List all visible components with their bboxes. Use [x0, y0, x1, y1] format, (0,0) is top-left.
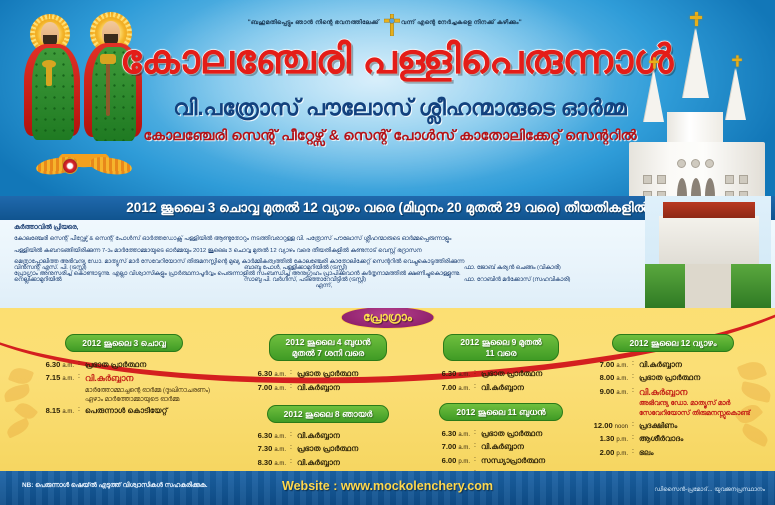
row-colon: :	[474, 455, 481, 466]
day-header-jul4-7[interactable]: 2012 ജൂലൈ 4 ബുധൻമുതൽ 7 ശനി വരെ	[269, 334, 388, 361]
program-rows: 6.30 a.m. : പ്രഭാത പ്രാർത്ഥന 7.00 a.m. :…	[422, 428, 580, 471]
wings-emblem	[34, 154, 134, 176]
row-event: പ്രഭാത പ്രാർത്ഥന	[481, 428, 580, 441]
row-colon: :	[290, 443, 297, 454]
program-row: 7.00 a.m. : വി.കുർബ്ബാന	[580, 359, 766, 372]
row-time: 7.15 a.m.	[26, 372, 78, 385]
row-colon: :	[474, 441, 481, 452]
design-credit: ഡിസൈൻ-പ്രമോദ്... യുവജനപ്രസ്ഥാനം	[654, 487, 765, 494]
program-row: 7.00 a.m. : വി.കുർബ്ബാന	[238, 382, 418, 395]
row-event: പ്രഭാത പ്രാർത്ഥന	[297, 368, 418, 381]
row-time: 2.00 p.m.	[580, 447, 632, 460]
church-thumbnail-roof	[663, 202, 755, 218]
row-colon: :	[290, 368, 297, 379]
signatory-line: നെല്ലിക്കാമുറിയിൽ	[14, 274, 244, 286]
row-colon: :	[474, 382, 481, 393]
church-spire-right	[726, 68, 746, 120]
program-row: 7.00 a.m. : വി.കുർബ്ബാന	[422, 441, 580, 454]
church-window	[739, 175, 748, 184]
program-row: 7.15 a.m. : വി.കുർബ്ബാന മാർത്തോമ്മാച്ചന്…	[26, 372, 222, 404]
program-row: 7.00 a.m. : വി.കുർബ്ബാന	[422, 382, 580, 395]
program-section: പ്രോഗ്രാം 2012 ജൂലൈ 3 ചൊവ്വ 6.30 a.m. : …	[0, 308, 775, 471]
church-window	[657, 175, 666, 184]
program-rows: 6.30 a.m. : പ്രഭാത പ്രാർത്ഥന 7.00 a.m. :…	[238, 368, 418, 394]
row-time: 12.00 noon	[580, 420, 632, 433]
row-colon: :	[632, 359, 639, 370]
signatory-line: ഫാ. ജോബ് കുര്യൻ ചെങ്ങം (വികാരി)	[464, 262, 654, 274]
program-row: 9.00 a.m. : വി.കുർബ്ബാന അഭിവന്ദ്യ ഡോ. മാ…	[580, 386, 766, 419]
header-section: "ബഹുമതിപ്പെട്ടും ഞാൻ നിന്റെ ഭവനത്തിലേക്ക…	[0, 0, 775, 196]
row-colon: :	[290, 382, 297, 393]
signatory-line: ഫാ. റോബിൻ മർക്കോസ് (സഹവികാരി)	[464, 274, 654, 286]
row-colon: :	[632, 420, 639, 431]
program-rows: 7.00 a.m. : വി.കുർബ്ബാന 8.00 a.m. : പ്രഭ…	[580, 359, 766, 460]
church-spire-center	[683, 28, 709, 98]
row-colon: :	[632, 372, 639, 383]
signatory-group-vicars: ഫാ. ജോബ് കുര്യൻ ചെങ്ങം (വികാരി) ഫാ. റോബി…	[464, 262, 654, 286]
row-event: വി.കുർബ്ബാന	[297, 430, 418, 443]
row-colon: :	[474, 428, 481, 439]
church-window	[643, 175, 652, 184]
program-column-3: 2012 ജൂലൈ 9 മുതൽ11 വരെ 6.30 a.m. : പ്രഭാ…	[422, 334, 580, 471]
church-photo	[621, 4, 773, 196]
church-rose-window	[677, 159, 686, 168]
signatory-line: ബാബു പോൾ, പള്ളിക്കാമുറിയിൽ (ട്രസ്റ്റി)	[244, 262, 464, 274]
verse-left-text: "ബഹുമതിപ്പെട്ടും ഞാൻ നിന്റെ ഭവനത്തിലേക്ക…	[184, 19, 379, 27]
sword-icon	[106, 58, 110, 116]
day-header-jul8[interactable]: 2012 ജൂലൈ 8 ഞായർ	[267, 405, 390, 423]
row-event: വി.കുർബ്ബാന	[639, 359, 766, 372]
program-row: 6.30 a.m. : വി.കുർബ്ബാന	[238, 430, 418, 443]
signatories: വിൻസന്റ് എസ്. പി. (ട്രസ്റ്റി) നെല്ലിക്കാ…	[14, 262, 654, 286]
program-row: 7.30 a.m. : പ്രഭാത പ്രാർത്ഥന	[238, 443, 418, 456]
row-colon: :	[290, 430, 297, 441]
program-row: 6.30 a.m. : പ്രഭാത പ്രാർത്ഥന	[238, 368, 418, 381]
program-row: 6.30 a.m. : പ്രഭാത പ്രാർത്ഥന	[422, 428, 580, 441]
row-event: സന്ധ്യാപ്രാർത്ഥന	[481, 455, 580, 468]
wing-right-icon	[89, 155, 133, 177]
row-colon: :	[632, 386, 639, 397]
row-event: വി.കുർബ്ബാന	[481, 382, 580, 395]
cross-icon	[384, 14, 400, 36]
row-time: 8.00 a.m.	[580, 372, 632, 385]
row-time: 1.30 p.m.	[580, 433, 632, 446]
church-cross-right-icon	[732, 55, 742, 66]
row-time: 6.00 p.m.	[422, 455, 474, 468]
program-row: 12.00 noon : പ്രദക്ഷിണം	[580, 420, 766, 433]
row-colon: :	[78, 359, 85, 370]
subtitle-feast: വി.പത്രോസ് പൗലോസ് ശ്ലീഹന്മാരുടെ ഓർമ്മ	[130, 95, 670, 121]
row-time: 9.00 a.m.	[580, 386, 632, 399]
body-section: 2012 ജൂലൈ 3 ചൊവ്വ മുതൽ 12 വ്യാഴം വരെ (മി…	[0, 196, 775, 308]
row-event: വി.കുർബ്ബാന	[297, 457, 418, 470]
row-event: ആശീർവാദം	[639, 433, 766, 446]
row-time: 6.30 a.m.	[238, 430, 290, 443]
signatory-group-trustees: ബാബു പോൾ, പള്ളിക്കാമുറിയിൽ (ട്രസ്റ്റി) സ…	[244, 262, 464, 286]
row-event: പെരുന്നാൾ കൊടിയേറ്റ്	[85, 405, 222, 418]
day-header-jul12[interactable]: 2012 ജൂലൈ 12 വ്യാഴം	[612, 334, 733, 352]
row-time: 7.30 a.m.	[238, 443, 290, 456]
church-cross-left-icon	[649, 57, 659, 68]
row-colon: :	[290, 457, 297, 468]
program-rows: 6.30 a.m. : പ്രഭാത പ്രാർത്ഥന 7.00 a.m. :…	[422, 368, 580, 394]
poster: "ബഹുമതിപ്പെട്ടും ഞാൻ നിന്റെ ഭവനത്തിലേക്ക…	[0, 0, 775, 505]
row-time: 6.30 a.m.	[238, 368, 290, 381]
row-time: 6.30 a.m.	[422, 428, 474, 441]
church-cross-center-icon	[690, 12, 702, 26]
church-window	[725, 175, 734, 184]
program-column-4: 2012 ജൂലൈ 12 വ്യാഴം 7.00 a.m. : വി.കുർബ്…	[580, 334, 766, 460]
row-time: 6.30 a.m.	[26, 359, 78, 372]
row-event: പ്രഭാത പ്രാർത്ഥന	[481, 368, 580, 381]
row-colon: :	[632, 433, 639, 444]
row-time: 7.00 a.m.	[580, 359, 632, 372]
row-event: വി.കുർബ്ബാന	[481, 441, 580, 454]
program-row: 6.30 a.m. : പ്രഭാത പ്രാർത്ഥന	[422, 368, 580, 381]
program-row: 6.30 a.m. : പ്രഭാത പ്രാർത്ഥന	[26, 359, 222, 372]
church-thumbnail-path	[685, 264, 731, 308]
subtitle-venue: കോലഞ്ചേരി സെന്റ് പീറ്റേഴ്സ് & സെന്റ് പോൾ…	[110, 128, 670, 144]
program-columns: 2012 ജൂലൈ 3 ചൊവ്വ 6.30 a.m. : പ്രഭാത പ്ര…	[0, 334, 775, 471]
row-colon: :	[78, 405, 85, 416]
row-time: 8.30 a.m.	[238, 457, 290, 470]
row-event: വി.കുർബ്ബാന അഭിവന്ദ്യ ഡോ. മാത്യൂസ് മാർ സ…	[639, 386, 766, 419]
row-time: 6.30 a.m.	[422, 368, 474, 381]
row-event: വി.കുർബ്ബാന മാർത്തോമ്മാച്ചന്റെ ഓർമ്മ (ദു…	[85, 372, 222, 404]
row-time: 7.00 a.m.	[238, 382, 290, 395]
footer-section: NB: പെരുന്നാൾ ഷെയ്ൽ എടുത്ത് വിശ്വാസികൾ സ…	[0, 471, 775, 505]
signatory-line: വിൻസന്റ് എസ്. പി. (ട്രസ്റ്റി)	[14, 262, 244, 274]
verse-right-text: വന്ന് എന്റെ നേർച്ചകളെ നിനക്ക് കഴിക്കും"	[401, 19, 596, 27]
row-event: പ്രഭാത പ്രാർത്ഥന	[85, 359, 222, 372]
page-title: കോലഞ്ചേരി പള്ളിപെരുന്നാൾ	[120, 40, 665, 80]
program-rows: 6.30 a.m. : വി.കുർബ്ബാന 7.30 a.m. : പ്രഭ…	[238, 430, 418, 470]
signatory-group-trustee: വിൻസന്റ് എസ്. പി. (ട്രസ്റ്റി) നെല്ലിക്കാ…	[14, 262, 244, 286]
church-rose-window	[705, 159, 714, 168]
program-column-2: 2012 ജൂലൈ 4 ബുധൻമുതൽ 7 ശനി വരെ 6.30 a.m.…	[238, 334, 418, 470]
website-link[interactable]: Website : www.mockolenchery.com	[282, 479, 493, 493]
signatory-line: സാബു പി. വർഗീസ്, പടിഞ്ഞാറേവീട്ടിൽ (ട്രസ്…	[244, 274, 464, 286]
program-rows: 6.30 a.m. : പ്രഭാത പ്രാർത്ഥന 7.15 a.m. :…	[26, 359, 222, 418]
program-row: 8.30 a.m. : വി.കുർബ്ബാന	[238, 457, 418, 470]
row-time: 7.00 a.m.	[422, 441, 474, 454]
church-thumbnail	[645, 196, 771, 308]
program-row: 1.30 p.m. : ആശീർവാദം	[580, 433, 766, 446]
row-colon: :	[78, 372, 85, 383]
saints-illustration	[18, 8, 150, 178]
program-row: 6.00 p.m. : സന്ധ്യാപ്രാർത്ഥന	[422, 455, 580, 468]
paragraph-line: പള്ളിയിൽ കബറടങ്ങിയിരിക്കുന്ന 7-ാം മാർത്ത…	[14, 246, 634, 258]
row-time: 7.00 a.m.	[422, 382, 474, 395]
medallion-icon	[62, 158, 78, 174]
program-row: 8.00 a.m. : പ്രഭാത പ്രാർത്ഥന	[580, 372, 766, 385]
program-column-1: 2012 ജൂലൈ 3 ചൊവ്വ 6.30 a.m. : പ്രഭാത പ്ര…	[26, 334, 222, 419]
church-rose-window	[691, 159, 700, 168]
footer-note: NB: പെരുന്നാൾ ഷെയ്ൽ എടുത്ത് വിശ്വാസികൾ സ…	[22, 482, 208, 490]
row-event: ഭലം	[639, 447, 766, 460]
program-row: 2.00 p.m. : ഭലം	[580, 447, 766, 460]
row-event: പ്രഭാത പ്രാർത്ഥന	[297, 443, 418, 456]
row-event: പ്രഭാത പ്രാർത്ഥന	[639, 372, 766, 385]
paragraph-line: കോലഞ്ചേരി സെന്റ് പീറ്റേഴ്സ് & സെന്റ് പോൾ…	[14, 234, 634, 246]
row-time: 8.15 a.m.	[26, 405, 78, 418]
row-event: പ്രദക്ഷിണം	[639, 420, 766, 433]
day-header-jul3[interactable]: 2012 ജൂലൈ 3 ചൊവ്വ	[65, 334, 183, 352]
row-colon: :	[474, 368, 481, 379]
day-header-jul11[interactable]: 2012 ജൂലൈ 11 ബുധൻ	[439, 403, 562, 421]
salutation: കർത്താവിൽ പ്രിയരെ,	[14, 222, 634, 234]
key-bow-icon	[42, 60, 56, 68]
church-spire-left	[644, 70, 664, 122]
row-event: വി.കുർബ്ബാന	[297, 382, 418, 395]
scroll-icon	[100, 54, 116, 64]
church-thumbnail-wall	[659, 216, 759, 264]
row-colon: :	[632, 447, 639, 458]
program-row: 8.15 a.m. : പെരുന്നാൾ കൊടിയേറ്റ്	[26, 405, 222, 418]
day-header-jul9-11[interactable]: 2012 ജൂലൈ 9 മുതൽ11 വരെ	[443, 334, 558, 361]
